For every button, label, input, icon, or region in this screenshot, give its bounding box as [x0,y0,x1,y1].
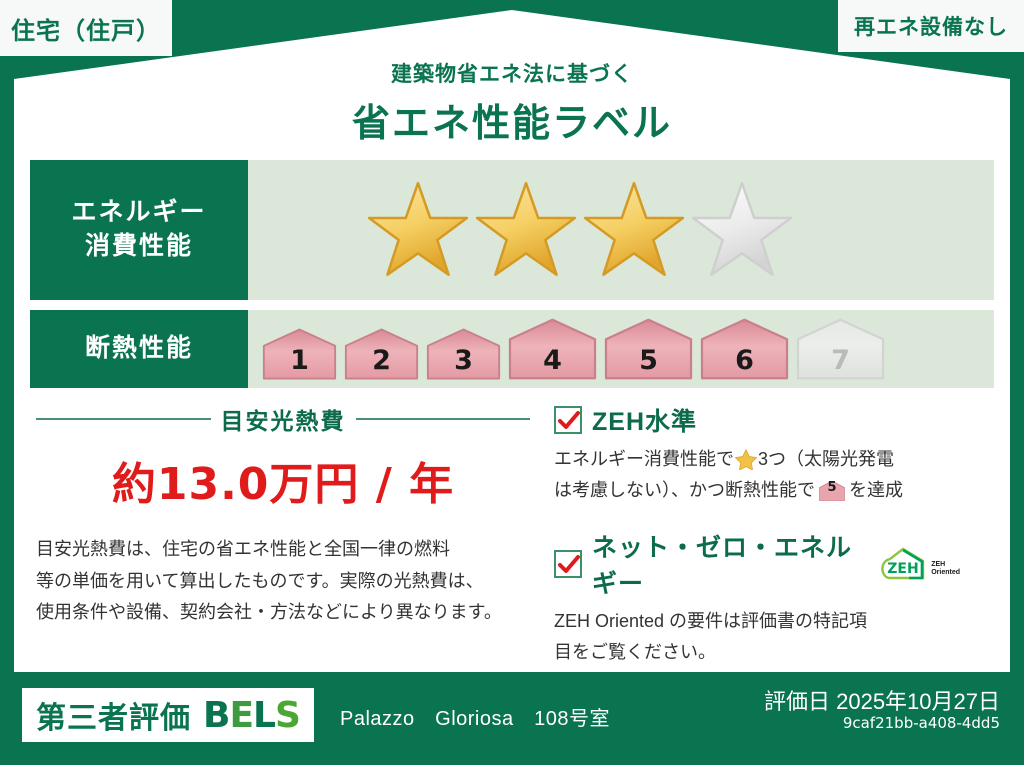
check-icon [558,411,580,431]
zeh-standard-line-1: エネルギー消費性能で 3つ（太陽光発電 [554,444,960,475]
insulation-level-label: 5 [602,345,695,376]
zeh-standard-header: ZEH水準 [554,402,960,438]
zeh-netzero-header: ネット・ゼロ・エネルギー ZEH ZEH Oriented [554,528,960,600]
insulation-level-label: 1 [260,345,339,376]
insulation-level-active: 5 [602,318,695,380]
insulation-level-active: 3 [424,328,503,380]
check-icon [558,555,580,575]
utility-cost-note: 目安光熱費は、住宅の省エネ性能と全国一律の燃料 等の単価を用いて算出したものです… [36,534,530,629]
bels-letter-l: L [253,695,275,736]
zeh-standard-line2-b: を達成 [849,475,903,506]
title-subtitle: 建築物省エネ法に基づく [0,58,1024,88]
insulation-level-label: 3 [424,345,503,376]
property-name: Palazzo Gloriosa 108号室 [340,702,610,731]
zeh-logo-caption-line2: Oriented [931,569,960,577]
zeh-standard-line2-a: は考慮しない）、かつ断熱性能で [554,475,815,506]
checkbox-zeh-netzero[interactable] [554,550,582,578]
insulation-level-active: 1 [260,328,339,380]
svg-text:ZEH: ZEH [887,561,918,577]
utility-cost-title: 目安光熱費 [221,402,346,436]
zeh-standard-line1-a: エネルギー消費性能で [554,444,734,475]
utility-cost-value: 約13.0万円 / 年 [36,448,530,512]
bels-letter-b: B [203,695,229,736]
insulation-level-label: 4 [506,345,599,376]
insulation-performance-value: 1234567 [248,310,994,388]
house-icon-inline: 5 [819,480,845,500]
rule-right [356,418,531,420]
bels-letter-s: S [275,695,300,736]
bels-en-text: BELS [203,695,300,736]
title-main: 省エネ性能ラベル [0,92,1024,147]
rule-left [36,418,211,420]
footer: 第三者評価 BELS Palazzo Gloriosa 108号室 評価日 20… [0,672,1024,765]
zeh-netzero-title: ネット・ゼロ・エネルギー [592,528,863,600]
lower-section: 目安光熱費 約13.0万円 / 年 目安光熱費は、住宅の省エネ性能と全国一律の燃… [30,402,994,668]
star-rating [366,180,794,280]
star-icon-filled [366,180,470,280]
bels-jp-text: 第三者評価 [36,693,191,737]
zeh-standard-block: ZEH水準 エネルギー消費性能で 3つ（太陽光発電 は考慮しない）、かつ断熱性能… [554,402,960,506]
zeh-standard-line-2: は考慮しない）、かつ断熱性能で 5 を達成 [554,475,960,506]
house-icon-level: 5 [819,477,845,499]
insulation-label-line1: 断熱性能 [85,332,193,366]
cost-note-line-1: 目安光熱費は、住宅の省エネ性能と全国一律の燃料 [36,534,530,566]
insulation-level-inactive: 7 [794,318,887,380]
energy-label-line1: エネルギー [71,196,206,230]
insulation-level-active: 2 [342,328,421,380]
zeh-logo-caption-line1: ZEH [931,561,960,569]
energy-performance-value [248,160,994,300]
checkbox-zeh-standard[interactable] [554,406,582,434]
cost-note-line-3: 使用条件や設備、契約会社・方法などにより異なります。 [36,597,530,629]
bels-letter-e: E [229,695,253,736]
bels-logo: 第三者評価 BELS [22,688,314,742]
zeh-oriented-logo: ZEH ZEH Oriented [879,547,960,581]
badge-housing-type: 住宅（住戸） [0,0,172,56]
insulation-level-active: 4 [506,318,599,380]
insulation-level-label: 7 [794,345,887,376]
star-icon-filled [474,180,578,280]
row-energy-performance: エネルギー 消費性能 [30,160,994,300]
badge-renewable-equipment: 再エネ設備なし [838,0,1024,52]
zeh-standard-title: ZEH水準 [592,402,697,438]
zeh-netzero-body: ZEH Oriented の要件は評価書の特記項 目をご覧ください。 [554,606,960,668]
insulation-scale: 1234567 [260,318,887,380]
zeh-netzero-line-2: 目をご覧ください。 [554,637,960,668]
star-icon-filled [582,180,686,280]
content-area: エネルギー 消費性能 断熱性能 1234567 目安光熱費 約13.0万円 / … [30,160,994,668]
utility-cost-column: 目安光熱費 約13.0万円 / 年 目安光熱費は、住宅の省エネ性能と全国一律の燃… [30,402,530,668]
insulation-level-active: 6 [698,318,791,380]
zeh-house-logo-icon: ZEH [879,547,929,581]
insulation-level-label: 2 [342,345,421,376]
zeh-netzero-line-1: ZEH Oriented の要件は評価書の特記項 [554,606,960,637]
star-icon-inline [735,449,757,470]
row-insulation-performance: 断熱性能 1234567 [30,310,994,388]
zeh-standard-body: エネルギー消費性能で 3つ（太陽光発電 は考慮しない）、かつ断熱性能で 5 [554,444,960,506]
page-title: 建築物省エネ法に基づく 省エネ性能ラベル [0,58,1024,147]
evaluation-date: 評価日 2025年10月27日 [764,684,1000,716]
zeh-netzero-block: ネット・ゼロ・エネルギー ZEH ZEH Oriented [554,528,960,668]
evaluation-id: 9caf21bb-a408-4dd5 [843,714,1000,732]
insulation-level-label: 6 [698,345,791,376]
zeh-column: ZEH水準 エネルギー消費性能で 3つ（太陽光発電 は考慮しない）、かつ断熱性能… [530,402,960,668]
insulation-performance-label: 断熱性能 [30,310,248,388]
utility-cost-header: 目安光熱費 [36,402,530,436]
star-icon-empty [690,180,794,280]
zeh-standard-line1-b: 3つ（太陽光発電 [758,444,894,475]
energy-label-line2: 消費性能 [85,230,193,264]
cost-note-line-2: 等の単価を用いて算出したものです。実際の光熱費は、 [36,566,530,598]
zeh-logo-caption: ZEH Oriented [931,561,960,577]
energy-performance-label: エネルギー 消費性能 [30,160,248,300]
